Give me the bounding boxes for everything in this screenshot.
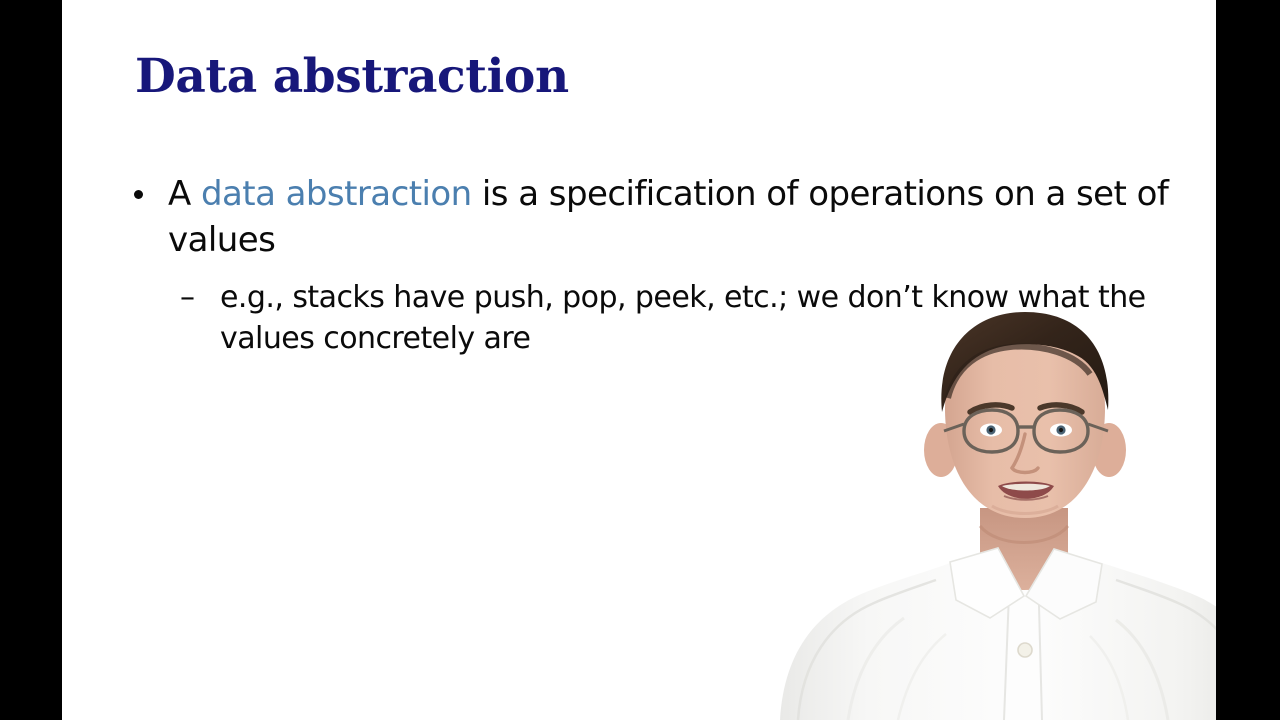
slide-frame: Data abstraction A data abstraction is a… <box>0 0 1280 720</box>
bullet-level2-text: e.g., stacks have push, pop, peek, etc.;… <box>220 280 1146 356</box>
presenter-collar <box>950 548 1102 619</box>
bullet-dash-icon: – <box>180 277 194 318</box>
presenter-figure <box>698 300 1216 720</box>
glasses-icon <box>944 410 1108 452</box>
bullet-level1: A data abstraction is a specification of… <box>122 172 1197 263</box>
presenter-shirt <box>780 550 1216 720</box>
letterbox-bar-right <box>1216 0 1280 720</box>
bullet-level2: – e.g., stacks have push, pop, peek, etc… <box>122 277 1197 360</box>
bullet-level1-text-before: A <box>168 174 201 214</box>
shirt-button <box>1018 643 1032 657</box>
slide-canvas: Data abstraction A data abstraction is a… <box>62 0 1216 720</box>
presenter-neck <box>980 508 1068 590</box>
presenter-video-overlay <box>698 300 1216 720</box>
bullet-level1-emphasis-term: data abstraction <box>201 174 472 214</box>
bullet-dot-icon <box>134 190 143 199</box>
letterbox-bar-left <box>0 0 62 720</box>
slide-body-list: A data abstraction is a specification of… <box>122 172 1197 360</box>
page-title: Data abstraction <box>135 52 569 101</box>
